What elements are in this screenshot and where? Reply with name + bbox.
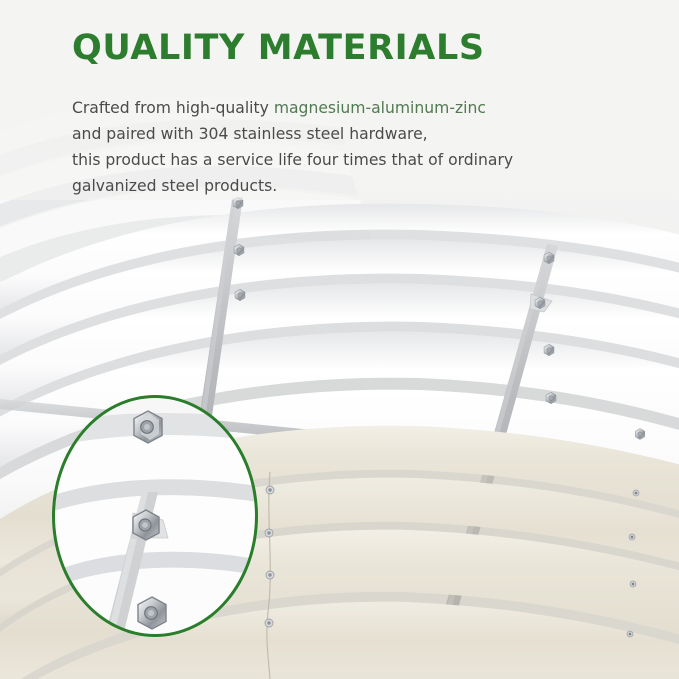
hex-bolt: [235, 289, 245, 300]
feature-description: Crafted from high-quality magnesium-alum…: [72, 95, 632, 199]
screw: [265, 619, 273, 627]
description-line-3: this product has a service life four tim…: [72, 147, 632, 173]
product-feature-card: QUALITY MATERIALS Crafted from high-qual…: [0, 0, 679, 679]
hex-bolt-magnified: [134, 411, 162, 443]
screw: [266, 486, 274, 494]
hex-bolt: [544, 252, 554, 263]
screw: [633, 490, 639, 496]
screw: [630, 581, 636, 587]
description-line-1: Crafted from high-quality magnesium-alum…: [72, 95, 632, 121]
hex-bolt: [544, 344, 554, 355]
hex-bolt-magnified: [138, 597, 166, 629]
description-line-2: and paired with 304 stainless steel hard…: [72, 121, 632, 147]
screw: [627, 631, 633, 637]
hex-bolt-magnified: [133, 510, 159, 540]
hex-bolt: [234, 244, 244, 255]
hex-bolt: [635, 429, 645, 440]
description-line-1-prefix: Crafted from high-quality: [72, 99, 274, 117]
hex-bolt: [535, 297, 545, 308]
description-line-4: galvanized steel products.: [72, 173, 632, 199]
screw: [265, 529, 273, 537]
hex-bolt: [546, 392, 556, 403]
screw: [266, 571, 274, 579]
material-accent-text: magnesium-aluminum-zinc: [274, 99, 486, 117]
page-title: QUALITY MATERIALS: [72, 30, 632, 67]
feature-text-block: QUALITY MATERIALS Crafted from high-qual…: [72, 30, 632, 199]
screw: [629, 534, 635, 540]
